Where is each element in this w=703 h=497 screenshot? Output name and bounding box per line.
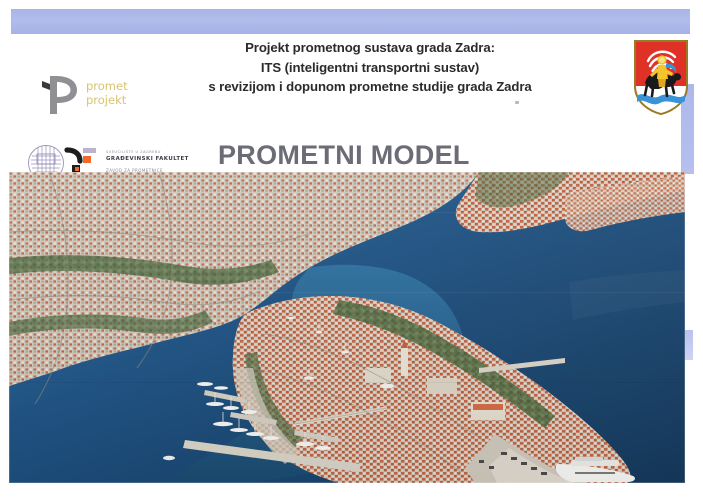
document-page: promet projekt Projekt prometnog sustava… (0, 0, 703, 497)
logo-line-2: projekt (86, 94, 128, 108)
header-accent-band (11, 9, 690, 34)
zadar-aerial-photograph (9, 172, 685, 483)
title-line-2: ITS (inteligentni transportni sustav) (150, 58, 590, 78)
faculty-university-line: SVEUČILIŠTE U ZAGREBU (106, 150, 186, 154)
faculty-wordmark: SVEUČILIŠTE U ZAGREBU GRAĐEVINSKI FAKULT… (106, 150, 186, 173)
promet-projekt-logo: promet projekt (36, 72, 166, 117)
title-line-3: s revizijom i dopunom prometne studije g… (150, 77, 590, 97)
zadar-coat-of-arms (633, 39, 689, 116)
faculty-name-line: GRAĐEVINSKI FAKULTET (106, 156, 186, 162)
page-title: Projekt prometnog sustava grada Zadra: I… (150, 38, 590, 97)
document-subtitle: PROMETNI MODEL (218, 140, 470, 171)
document-header: promet projekt Projekt prometnog sustava… (0, 34, 703, 172)
title-line-1: Projekt prometnog sustava grada Zadra: (150, 38, 590, 58)
promet-projekt-p-icon (36, 72, 82, 117)
photo-content (9, 172, 685, 483)
scan-artifact-dot (515, 101, 519, 104)
promet-projekt-wordmark: promet projekt (86, 80, 128, 107)
logo-line-1: promet (86, 80, 128, 94)
